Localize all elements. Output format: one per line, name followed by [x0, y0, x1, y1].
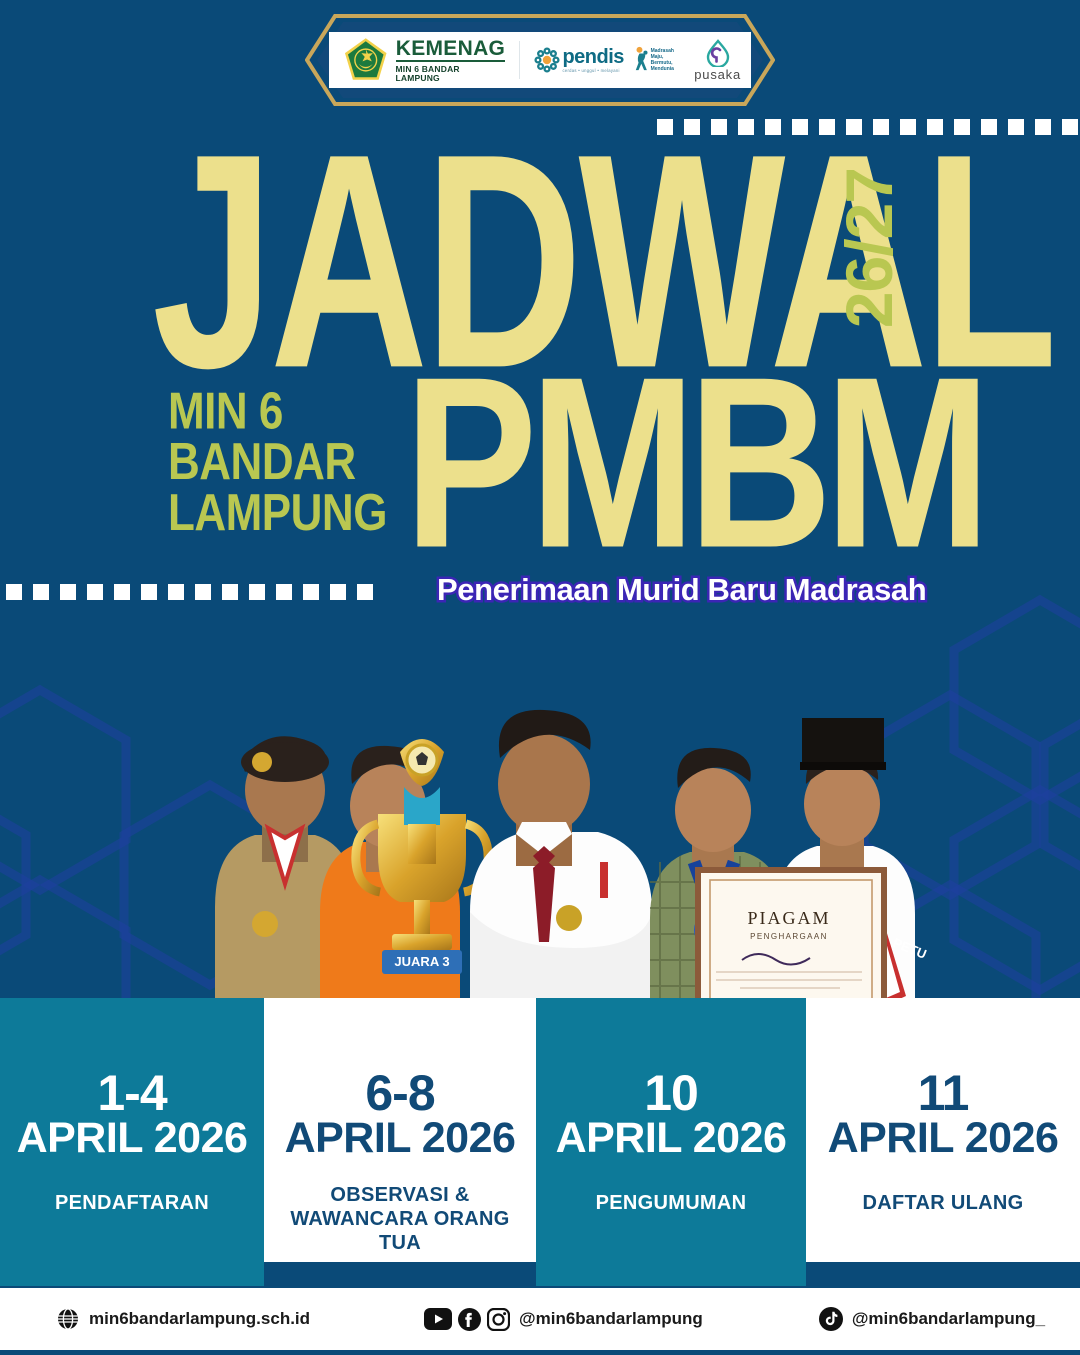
youtube-icon[interactable] [424, 1308, 452, 1330]
madrasah-line-1: Madrasah Maju, [651, 48, 686, 61]
footer-tiktok-handle: @min6bandarlampung_ [852, 1309, 1045, 1329]
svg-text:PENGHARGAAN: PENGHARGAAN [750, 932, 828, 941]
pusaka-word: pusaka [694, 67, 741, 82]
logo-divider [519, 41, 520, 79]
program-subtitle: Penerimaan Murid Baru Madrasah [437, 572, 926, 608]
students-photo: JUARA 3 [0, 612, 1080, 1002]
madrasah-runner-logo-icon [633, 45, 649, 75]
footer-contact-bar: min6bandarlampung.sch.id @min6bandarlamp… [0, 1288, 1080, 1350]
schedule-day: 6-8 [365, 1070, 434, 1118]
pusaka-logo-block: pusaka [694, 39, 741, 82]
school-name-line-3: LAMPUNG [168, 488, 387, 539]
footer-social-handle: @min6bandarlampung [519, 1309, 703, 1329]
schedule-card-pendaftaran[interactable]: 1-4 APRIL 2026 PENDAFTARAN [0, 998, 264, 1286]
svg-text:PIAGAM: PIAGAM [747, 908, 830, 928]
footer-tiktok[interactable]: @min6bandarlampung_ [819, 1307, 1045, 1331]
schedule-caption: DAFTAR ULANG [849, 1192, 1038, 1216]
program-acronym: PMBM [404, 366, 983, 561]
school-name-line-1: MIN 6 [168, 386, 387, 437]
schedule-monthyear: APRIL 2026 [17, 1118, 248, 1159]
kemenag-text-block: KEMENAG MIN 6 BANDAR LAMPUNG [395, 38, 505, 82]
banner-content: KEMENAG MIN 6 BANDAR LAMPUNG [329, 32, 751, 88]
schedule-card-daftar-ulang[interactable]: 11 APRIL 2026 DAFTAR ULANG [806, 998, 1080, 1262]
kemenag-name: KEMENAG [396, 38, 505, 62]
pusaka-droplet-logo-icon [705, 39, 731, 67]
schedule-caption: OBSERVASI & WAWANCARA ORANG TUA [264, 1184, 536, 1255]
tiktok-icon [819, 1307, 843, 1331]
certificate-piagam: PIAGAM PENGHARGAAN [698, 870, 884, 1002]
madrasah-logo-block: Madrasah Maju, Bermutu, Mendunia [633, 45, 685, 75]
instagram-icon[interactable] [487, 1308, 510, 1331]
pendis-tagline: cerdas • unggul • melayani [562, 68, 623, 73]
schedule-card-row: 1-4 APRIL 2026 PENDAFTARAN 6-8 APRIL 202… [0, 998, 1080, 1288]
madrasah-tagline: Madrasah Maju, Bermutu, Mendunia [651, 48, 686, 73]
school-name-block: MIN 6 BANDAR LAMPUNG [168, 386, 387, 539]
kemenag-subtitle: MIN 6 BANDAR LAMPUNG [395, 65, 505, 82]
schedule-day: 10 [644, 1070, 698, 1118]
facebook-icon[interactable] [458, 1308, 481, 1331]
center-student [470, 710, 652, 1002]
kemenag-logo-block: KEMENAG MIN 6 BANDAR LAMPUNG [343, 36, 505, 84]
globe-icon [56, 1307, 80, 1331]
schedule-day: 1-4 [97, 1070, 166, 1118]
schedule-monthyear: APRIL 2026 [556, 1118, 787, 1159]
svg-text:JUARA 3: JUARA 3 [394, 954, 449, 969]
schedule-monthyear: APRIL 2026 [285, 1118, 516, 1159]
pendis-wordmark: pendis cerdas • unggul • melayani [562, 48, 623, 73]
schedule-card-observasi[interactable]: 6-8 APRIL 2026 OBSERVASI & WAWANCARA ORA… [264, 998, 536, 1262]
partner-logo-row: pendis cerdas • unggul • melayani Madras… [534, 39, 741, 82]
schedule-day: 11 [918, 1070, 969, 1118]
pendis-logo-block: pendis cerdas • unggul • melayani [534, 47, 623, 73]
kemenag-pentagon-logo-icon [343, 36, 388, 84]
schedule-caption: PENDAFTARAN [41, 1192, 223, 1216]
footer-social[interactable]: @min6bandarlampung [424, 1308, 703, 1331]
academic-year-badge: 26/27 [836, 168, 902, 328]
pendis-word: pendis [562, 46, 623, 68]
school-name-line-2: BANDAR [168, 437, 387, 488]
schedule-caption: PENGUMUMAN [582, 1192, 761, 1216]
schedule-card-pengumuman[interactable]: 10 APRIL 2026 PENGUMUMAN [536, 998, 806, 1286]
footer-website[interactable]: min6bandarlampung.sch.id [56, 1307, 310, 1331]
footer-website-label: min6bandarlampung.sch.id [89, 1309, 310, 1329]
schedule-monthyear: APRIL 2026 [828, 1118, 1059, 1159]
madrasah-line-3: Mendunia [651, 66, 686, 72]
header-logo-banner: KEMENAG MIN 6 BANDAR LAMPUNG [305, 14, 775, 106]
footer-social-icons [424, 1308, 510, 1331]
pendis-flower-logo-icon [534, 47, 560, 73]
